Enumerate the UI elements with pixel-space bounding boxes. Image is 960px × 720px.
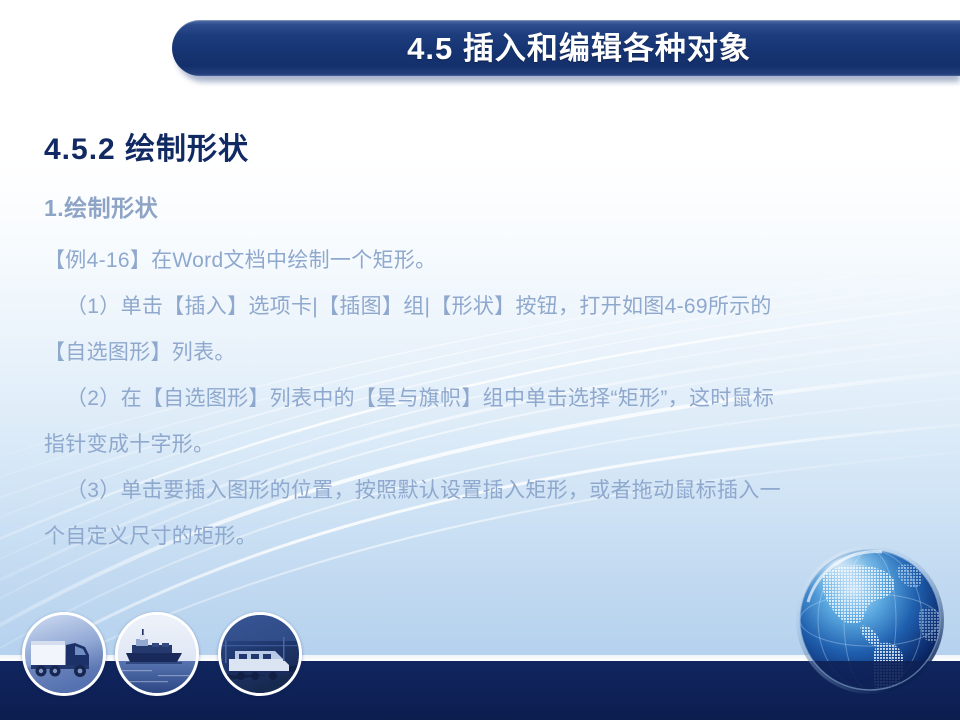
paragraph-example: 【例4-16】在Word文档中绘制一个矩形。 [44,238,944,284]
paragraph-step-2-cont: 指针变成十字形。 [44,422,944,468]
train-photo [218,612,302,696]
sub-heading: 1.绘制形状 [44,189,158,223]
banner-title-text: 4.5 插入和编辑各种对象 [407,33,751,64]
paragraph-step-1: （1）单击【插入】选项卡|【插图】组|【形状】按钮，打开如图4-69所示的 [44,284,944,330]
truck-photo [22,612,106,696]
globe-icon [790,540,950,700]
ship-photo [115,612,199,696]
title-banner: 4.5 插入和编辑各种对象 [172,20,960,80]
body-text-block: 【例4-16】在Word文档中绘制一个矩形。 （1）单击【插入】选项卡|【插图】… [44,238,944,560]
paragraph-step-3: （3）单击要插入图形的位置，按照默认设置插入矩形，或者拖动鼠标插入一 [44,468,944,514]
slide-canvas: 4.5 插入和编辑各种对象 4.5.2 绘制形状 1.绘制形状 【例4-16】在… [0,0,960,720]
paragraph-step-2: （2）在【自选图形】列表中的【星与旗帜】组中单击选择“矩形”，这时鼠标 [44,376,944,422]
banner-bar: 4.5 插入和编辑各种对象 [172,20,960,76]
section-heading: 4.5.2 绘制形状 [44,124,249,168]
paragraph-step-1-cont: 【自选图形】列表。 [44,330,944,376]
